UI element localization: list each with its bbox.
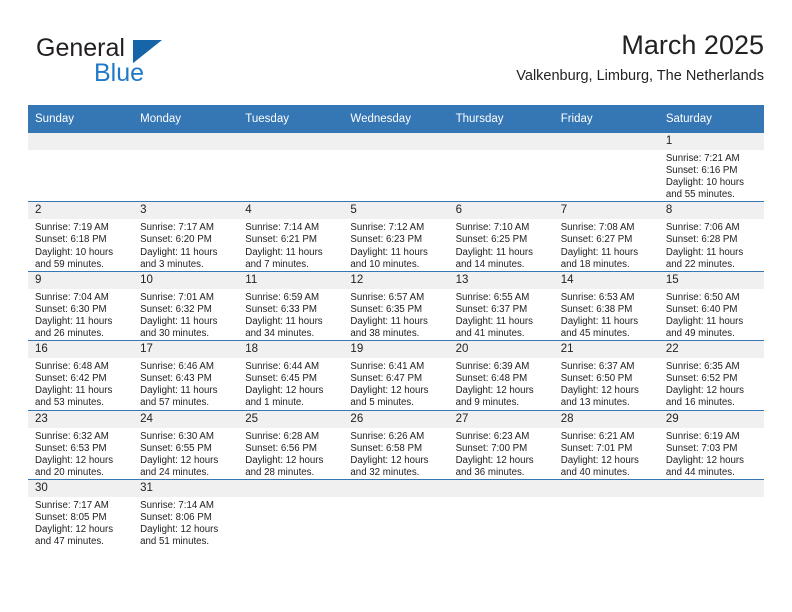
weekday-header-wednesday: Wednesday [343, 105, 448, 133]
calendar-body: 1Sunrise: 7:21 AMSunset: 6:16 PMDaylight… [28, 133, 764, 548]
day-detail-daylight2: and 1 minute. [245, 397, 339, 409]
calendar-empty-cell [554, 479, 659, 548]
day-detail-daylight2: and 55 minutes. [666, 189, 760, 201]
day-detail-daylight1: Daylight: 11 hours [35, 316, 129, 328]
day-detail-daylight1: Daylight: 11 hours [35, 385, 129, 397]
day-number: 23 [28, 411, 133, 428]
day-detail-sunrise: Sunrise: 6:55 AM [456, 292, 550, 304]
day-detail-daylight1: Daylight: 11 hours [350, 316, 444, 328]
day-detail-daylight2: and 59 minutes. [35, 259, 129, 271]
day-number: 14 [554, 272, 659, 289]
page-subtitle: Valkenburg, Limburg, The Netherlands [516, 65, 764, 87]
day-number: 26 [343, 411, 448, 428]
day-detail-daylight2: and 24 minutes. [140, 467, 234, 479]
day-details: Sunrise: 6:50 AMSunset: 6:40 PMDaylight:… [659, 289, 764, 340]
day-number [133, 133, 238, 150]
calendar-empty-cell [449, 479, 554, 548]
day-detail-daylight1: Daylight: 12 hours [666, 385, 760, 397]
day-detail-daylight1: Daylight: 11 hours [561, 316, 655, 328]
day-number: 22 [659, 341, 764, 358]
day-number: 19 [343, 341, 448, 358]
day-detail-daylight1: Daylight: 11 hours [140, 385, 234, 397]
day-number: 9 [28, 272, 133, 289]
day-details: Sunrise: 6:41 AMSunset: 6:47 PMDaylight:… [343, 358, 448, 409]
calendar-day-cell[interactable]: 16Sunrise: 6:48 AMSunset: 6:42 PMDayligh… [28, 341, 133, 410]
weekday-header-monday: Monday [133, 105, 238, 133]
day-detail-sunrise: Sunrise: 7:19 AM [35, 222, 129, 234]
day-detail-sunrise: Sunrise: 6:39 AM [456, 361, 550, 373]
day-detail-sunset: Sunset: 6:48 PM [456, 373, 550, 385]
day-number: 17 [133, 341, 238, 358]
day-number: 10 [133, 272, 238, 289]
weekday-header-saturday: Saturday [659, 105, 764, 133]
day-number: 11 [238, 272, 343, 289]
day-number: 2 [28, 202, 133, 219]
calendar-week-row: 2Sunrise: 7:19 AMSunset: 6:18 PMDaylight… [28, 202, 764, 271]
day-detail-sunrise: Sunrise: 7:21 AM [666, 153, 760, 165]
day-details: Sunrise: 7:14 AMSunset: 6:21 PMDaylight:… [238, 219, 343, 270]
day-detail-sunset: Sunset: 6:38 PM [561, 304, 655, 316]
day-details: Sunrise: 6:35 AMSunset: 6:52 PMDaylight:… [659, 358, 764, 409]
day-detail-sunset: Sunset: 6:52 PM [666, 373, 760, 385]
day-detail-sunrise: Sunrise: 6:26 AM [350, 431, 444, 443]
day-detail-daylight1: Daylight: 12 hours [140, 455, 234, 467]
day-detail-sunrise: Sunrise: 6:59 AM [245, 292, 339, 304]
day-number: 6 [449, 202, 554, 219]
day-number: 30 [28, 480, 133, 497]
day-number [554, 133, 659, 150]
day-details: Sunrise: 6:44 AMSunset: 6:45 PMDaylight:… [238, 358, 343, 409]
day-details: Sunrise: 6:21 AMSunset: 7:01 PMDaylight:… [554, 428, 659, 479]
day-number [238, 480, 343, 497]
calendar-day-cell[interactable]: 10Sunrise: 7:01 AMSunset: 6:32 PMDayligh… [133, 271, 238, 340]
day-detail-daylight2: and 13 minutes. [561, 397, 655, 409]
day-details: Sunrise: 7:17 AMSunset: 8:05 PMDaylight:… [28, 497, 133, 548]
day-detail-sunrise: Sunrise: 6:41 AM [350, 361, 444, 373]
day-detail-daylight2: and 16 minutes. [666, 397, 760, 409]
day-number [28, 133, 133, 150]
day-details: Sunrise: 7:12 AMSunset: 6:23 PMDaylight:… [343, 219, 448, 270]
calendar-week-row: 9Sunrise: 7:04 AMSunset: 6:30 PMDaylight… [28, 271, 764, 340]
day-detail-sunset: Sunset: 7:01 PM [561, 443, 655, 455]
day-details: Sunrise: 6:28 AMSunset: 6:56 PMDaylight:… [238, 428, 343, 479]
day-detail-sunset: Sunset: 6:28 PM [666, 234, 760, 246]
day-number: 25 [238, 411, 343, 428]
weekday-header-sunday: Sunday [28, 105, 133, 133]
calendar-day-cell[interactable]: 5Sunrise: 7:12 AMSunset: 6:23 PMDaylight… [343, 202, 448, 271]
page-title: March 2025 [516, 28, 764, 62]
day-detail-daylight1: Daylight: 12 hours [245, 455, 339, 467]
calendar-week-row: 30Sunrise: 7:17 AMSunset: 8:05 PMDayligh… [28, 479, 764, 548]
calendar-day-cell[interactable]: 2Sunrise: 7:19 AMSunset: 6:18 PMDaylight… [28, 202, 133, 271]
day-detail-daylight2: and 34 minutes. [245, 328, 339, 340]
day-detail-daylight1: Daylight: 12 hours [35, 524, 129, 536]
day-number: 13 [449, 272, 554, 289]
day-number: 5 [343, 202, 448, 219]
day-detail-sunrise: Sunrise: 6:19 AM [666, 431, 760, 443]
day-detail-sunrise: Sunrise: 6:50 AM [666, 292, 760, 304]
calendar-day-cell[interactable]: 17Sunrise: 6:46 AMSunset: 6:43 PMDayligh… [133, 341, 238, 410]
day-detail-daylight2: and 20 minutes. [35, 467, 129, 479]
day-detail-daylight1: Daylight: 11 hours [140, 316, 234, 328]
day-number [659, 480, 764, 497]
calendar-day-cell[interactable]: 3Sunrise: 7:17 AMSunset: 6:20 PMDaylight… [133, 202, 238, 271]
calendar-day-cell[interactable]: 13Sunrise: 6:55 AMSunset: 6:37 PMDayligh… [449, 271, 554, 340]
day-detail-daylight1: Daylight: 12 hours [245, 385, 339, 397]
calendar-day-cell[interactable]: 22Sunrise: 6:35 AMSunset: 6:52 PMDayligh… [659, 341, 764, 410]
day-detail-daylight1: Daylight: 11 hours [666, 316, 760, 328]
day-details: Sunrise: 6:59 AMSunset: 6:33 PMDaylight:… [238, 289, 343, 340]
day-number: 16 [28, 341, 133, 358]
day-number: 3 [133, 202, 238, 219]
calendar-day-cell[interactable]: 31Sunrise: 7:14 AMSunset: 8:06 PMDayligh… [133, 479, 238, 548]
day-details: Sunrise: 7:19 AMSunset: 6:18 PMDaylight:… [28, 219, 133, 270]
day-detail-daylight2: and 3 minutes. [140, 259, 234, 271]
day-details: Sunrise: 7:01 AMSunset: 6:32 PMDaylight:… [133, 289, 238, 340]
day-number: 1 [659, 133, 764, 150]
day-number: 31 [133, 480, 238, 497]
day-detail-sunset: Sunset: 6:27 PM [561, 234, 655, 246]
calendar-day-cell[interactable]: 29Sunrise: 6:19 AMSunset: 7:03 PMDayligh… [659, 410, 764, 479]
day-detail-sunrise: Sunrise: 6:30 AM [140, 431, 234, 443]
calendar-grid: Sunday Monday Tuesday Wednesday Thursday… [28, 105, 764, 548]
day-detail-daylight2: and 30 minutes. [140, 328, 234, 340]
calendar-day-cell[interactable]: 11Sunrise: 6:59 AMSunset: 6:33 PMDayligh… [238, 271, 343, 340]
day-detail-sunset: Sunset: 6:56 PM [245, 443, 339, 455]
calendar-day-cell[interactable]: 12Sunrise: 6:57 AMSunset: 6:35 PMDayligh… [343, 271, 448, 340]
day-detail-sunset: Sunset: 6:21 PM [245, 234, 339, 246]
weekday-header-thursday: Thursday [449, 105, 554, 133]
day-detail-daylight1: Daylight: 11 hours [561, 247, 655, 259]
day-detail-sunset: Sunset: 6:32 PM [140, 304, 234, 316]
day-number: 24 [133, 411, 238, 428]
calendar-day-cell[interactable]: 20Sunrise: 6:39 AMSunset: 6:48 PMDayligh… [449, 341, 554, 410]
day-detail-daylight2: and 14 minutes. [456, 259, 550, 271]
day-detail-daylight1: Daylight: 12 hours [561, 385, 655, 397]
calendar-empty-cell [238, 479, 343, 548]
day-detail-sunrise: Sunrise: 6:57 AM [350, 292, 444, 304]
day-detail-daylight2: and 47 minutes. [35, 536, 129, 548]
calendar-week-row: 1Sunrise: 7:21 AMSunset: 6:16 PMDaylight… [28, 133, 764, 202]
brand-logo[interactable]: General Blue [36, 34, 236, 92]
calendar-empty-cell [343, 133, 448, 202]
day-detail-daylight1: Daylight: 12 hours [140, 524, 234, 536]
day-detail-daylight1: Daylight: 12 hours [350, 385, 444, 397]
day-detail-daylight2: and 28 minutes. [245, 467, 339, 479]
day-detail-daylight1: Daylight: 10 hours [666, 177, 760, 189]
day-detail-daylight2: and 26 minutes. [35, 328, 129, 340]
day-detail-daylight2: and 32 minutes. [350, 467, 444, 479]
day-detail-sunset: Sunset: 6:35 PM [350, 304, 444, 316]
day-detail-sunset: Sunset: 6:55 PM [140, 443, 234, 455]
calendar-day-cell[interactable]: 30Sunrise: 7:17 AMSunset: 8:05 PMDayligh… [28, 479, 133, 548]
calendar-day-cell[interactable]: 18Sunrise: 6:44 AMSunset: 6:45 PMDayligh… [238, 341, 343, 410]
day-details: Sunrise: 6:53 AMSunset: 6:38 PMDaylight:… [554, 289, 659, 340]
calendar-empty-cell [343, 479, 448, 548]
day-detail-sunset: Sunset: 7:03 PM [666, 443, 760, 455]
day-detail-sunrise: Sunrise: 6:53 AM [561, 292, 655, 304]
calendar-day-cell[interactable]: 15Sunrise: 6:50 AMSunset: 6:40 PMDayligh… [659, 271, 764, 340]
day-number [554, 480, 659, 497]
day-detail-daylight1: Daylight: 11 hours [140, 247, 234, 259]
brand-name-blue: Blue [94, 59, 144, 88]
day-detail-sunrise: Sunrise: 7:14 AM [245, 222, 339, 234]
calendar-page: General Blue March 2025 Valkenburg, Limb… [0, 0, 792, 612]
day-detail-sunrise: Sunrise: 6:23 AM [456, 431, 550, 443]
day-detail-sunset: Sunset: 6:43 PM [140, 373, 234, 385]
day-detail-sunset: Sunset: 6:33 PM [245, 304, 339, 316]
day-detail-sunrise: Sunrise: 7:17 AM [140, 222, 234, 234]
calendar-empty-cell [28, 133, 133, 202]
day-details: Sunrise: 6:32 AMSunset: 6:53 PMDaylight:… [28, 428, 133, 479]
calendar-day-cell[interactable]: 7Sunrise: 7:08 AMSunset: 6:27 PMDaylight… [554, 202, 659, 271]
day-details: Sunrise: 7:08 AMSunset: 6:27 PMDaylight:… [554, 219, 659, 270]
day-number: 15 [659, 272, 764, 289]
day-number [238, 133, 343, 150]
day-number: 29 [659, 411, 764, 428]
day-detail-daylight2: and 36 minutes. [456, 467, 550, 479]
day-details: Sunrise: 6:48 AMSunset: 6:42 PMDaylight:… [28, 358, 133, 409]
day-detail-sunset: Sunset: 6:23 PM [350, 234, 444, 246]
day-detail-sunset: Sunset: 6:25 PM [456, 234, 550, 246]
page-header: General Blue March 2025 Valkenburg, Limb… [28, 28, 764, 100]
day-detail-daylight2: and 10 minutes. [350, 259, 444, 271]
day-number [343, 480, 448, 497]
day-number: 8 [659, 202, 764, 219]
calendar-day-cell[interactable]: 21Sunrise: 6:37 AMSunset: 6:50 PMDayligh… [554, 341, 659, 410]
day-detail-sunrise: Sunrise: 7:06 AM [666, 222, 760, 234]
day-detail-sunrise: Sunrise: 6:37 AM [561, 361, 655, 373]
calendar-day-cell[interactable]: 28Sunrise: 6:21 AMSunset: 7:01 PMDayligh… [554, 410, 659, 479]
day-detail-sunset: Sunset: 6:47 PM [350, 373, 444, 385]
day-detail-sunrise: Sunrise: 7:04 AM [35, 292, 129, 304]
day-detail-daylight2: and 49 minutes. [666, 328, 760, 340]
day-details: Sunrise: 6:55 AMSunset: 6:37 PMDaylight:… [449, 289, 554, 340]
calendar-empty-cell [133, 133, 238, 202]
day-detail-sunrise: Sunrise: 7:10 AM [456, 222, 550, 234]
day-detail-sunrise: Sunrise: 6:44 AM [245, 361, 339, 373]
day-number: 20 [449, 341, 554, 358]
day-detail-daylight1: Daylight: 12 hours [561, 455, 655, 467]
calendar-day-cell[interactable]: 27Sunrise: 6:23 AMSunset: 7:00 PMDayligh… [449, 410, 554, 479]
day-detail-daylight2: and 41 minutes. [456, 328, 550, 340]
day-detail-daylight2: and 9 minutes. [456, 397, 550, 409]
day-detail-sunrise: Sunrise: 6:48 AM [35, 361, 129, 373]
day-detail-sunrise: Sunrise: 7:14 AM [140, 500, 234, 512]
day-details: Sunrise: 6:37 AMSunset: 6:50 PMDaylight:… [554, 358, 659, 409]
day-detail-daylight1: Daylight: 11 hours [456, 316, 550, 328]
day-detail-daylight2: and 5 minutes. [350, 397, 444, 409]
day-detail-sunrise: Sunrise: 6:21 AM [561, 431, 655, 443]
day-detail-sunset: Sunset: 6:45 PM [245, 373, 339, 385]
calendar-empty-cell [238, 133, 343, 202]
day-details: Sunrise: 6:46 AMSunset: 6:43 PMDaylight:… [133, 358, 238, 409]
calendar-day-cell[interactable]: 25Sunrise: 6:28 AMSunset: 6:56 PMDayligh… [238, 410, 343, 479]
day-detail-sunset: Sunset: 6:53 PM [35, 443, 129, 455]
weekday-header-row: Sunday Monday Tuesday Wednesday Thursday… [28, 105, 764, 133]
day-detail-daylight2: and 18 minutes. [561, 259, 655, 271]
day-detail-sunset: Sunset: 8:05 PM [35, 512, 129, 524]
day-number: 28 [554, 411, 659, 428]
day-details: Sunrise: 6:23 AMSunset: 7:00 PMDaylight:… [449, 428, 554, 479]
day-details: Sunrise: 6:30 AMSunset: 6:55 PMDaylight:… [133, 428, 238, 479]
calendar-empty-cell [659, 479, 764, 548]
day-detail-sunrise: Sunrise: 7:08 AM [561, 222, 655, 234]
calendar-week-row: 23Sunrise: 6:32 AMSunset: 6:53 PMDayligh… [28, 410, 764, 479]
day-details: Sunrise: 7:06 AMSunset: 6:28 PMDaylight:… [659, 219, 764, 270]
calendar-day-cell[interactable]: 1Sunrise: 7:21 AMSunset: 6:16 PMDaylight… [659, 133, 764, 202]
day-detail-daylight2: and 7 minutes. [245, 259, 339, 271]
day-detail-daylight2: and 22 minutes. [666, 259, 760, 271]
day-detail-daylight1: Daylight: 11 hours [245, 316, 339, 328]
day-details: Sunrise: 6:57 AMSunset: 6:35 PMDaylight:… [343, 289, 448, 340]
day-detail-sunset: Sunset: 6:20 PM [140, 234, 234, 246]
calendar-week-row: 16Sunrise: 6:48 AMSunset: 6:42 PMDayligh… [28, 341, 764, 410]
day-detail-sunset: Sunset: 6:42 PM [35, 373, 129, 385]
day-detail-daylight1: Daylight: 12 hours [456, 385, 550, 397]
day-detail-sunset: Sunset: 7:00 PM [456, 443, 550, 455]
day-detail-sunset: Sunset: 6:16 PM [666, 165, 760, 177]
day-detail-sunrise: Sunrise: 6:35 AM [666, 361, 760, 373]
calendar-day-cell[interactable]: 6Sunrise: 7:10 AMSunset: 6:25 PMDaylight… [449, 202, 554, 271]
day-detail-sunset: Sunset: 6:30 PM [35, 304, 129, 316]
day-number: 27 [449, 411, 554, 428]
calendar-day-cell[interactable]: 8Sunrise: 7:06 AMSunset: 6:28 PMDaylight… [659, 202, 764, 271]
day-detail-daylight1: Daylight: 11 hours [456, 247, 550, 259]
day-detail-daylight2: and 51 minutes. [140, 536, 234, 548]
day-detail-daylight2: and 53 minutes. [35, 397, 129, 409]
calendar-day-cell[interactable]: 14Sunrise: 6:53 AMSunset: 6:38 PMDayligh… [554, 271, 659, 340]
day-detail-daylight2: and 44 minutes. [666, 467, 760, 479]
day-detail-daylight1: Daylight: 11 hours [350, 247, 444, 259]
day-detail-daylight1: Daylight: 12 hours [35, 455, 129, 467]
day-number: 12 [343, 272, 448, 289]
day-detail-sunrise: Sunrise: 7:17 AM [35, 500, 129, 512]
title-block: March 2025 Valkenburg, Limburg, The Neth… [516, 28, 764, 87]
calendar-day-cell[interactable]: 26Sunrise: 6:26 AMSunset: 6:58 PMDayligh… [343, 410, 448, 479]
day-number: 18 [238, 341, 343, 358]
day-detail-sunset: Sunset: 6:37 PM [456, 304, 550, 316]
day-detail-sunset: Sunset: 6:50 PM [561, 373, 655, 385]
calendar-day-cell[interactable]: 4Sunrise: 7:14 AMSunset: 6:21 PMDaylight… [238, 202, 343, 271]
day-detail-sunrise: Sunrise: 7:01 AM [140, 292, 234, 304]
day-detail-daylight1: Daylight: 11 hours [245, 247, 339, 259]
calendar-day-cell[interactable]: 24Sunrise: 6:30 AMSunset: 6:55 PMDayligh… [133, 410, 238, 479]
day-detail-sunset: Sunset: 8:06 PM [140, 512, 234, 524]
day-detail-daylight1: Daylight: 11 hours [666, 247, 760, 259]
weekday-header-tuesday: Tuesday [238, 105, 343, 133]
day-details: Sunrise: 7:17 AMSunset: 6:20 PMDaylight:… [133, 219, 238, 270]
day-detail-daylight2: and 38 minutes. [350, 328, 444, 340]
day-number: 21 [554, 341, 659, 358]
weekday-header-friday: Friday [554, 105, 659, 133]
day-number [343, 133, 448, 150]
day-detail-sunset: Sunset: 6:58 PM [350, 443, 444, 455]
day-detail-daylight1: Daylight: 12 hours [666, 455, 760, 467]
day-detail-sunrise: Sunrise: 6:32 AM [35, 431, 129, 443]
day-detail-daylight1: Daylight: 12 hours [350, 455, 444, 467]
day-detail-daylight2: and 40 minutes. [561, 467, 655, 479]
day-details: Sunrise: 7:10 AMSunset: 6:25 PMDaylight:… [449, 219, 554, 270]
day-detail-sunrise: Sunrise: 6:28 AM [245, 431, 339, 443]
day-detail-sunset: Sunset: 6:18 PM [35, 234, 129, 246]
calendar-day-cell[interactable]: 9Sunrise: 7:04 AMSunset: 6:30 PMDaylight… [28, 271, 133, 340]
day-details: Sunrise: 6:39 AMSunset: 6:48 PMDaylight:… [449, 358, 554, 409]
day-details: Sunrise: 7:21 AMSunset: 6:16 PMDaylight:… [659, 150, 764, 201]
day-detail-daylight1: Daylight: 10 hours [35, 247, 129, 259]
day-detail-daylight1: Daylight: 12 hours [456, 455, 550, 467]
day-details: Sunrise: 6:26 AMSunset: 6:58 PMDaylight:… [343, 428, 448, 479]
day-detail-sunset: Sunset: 6:40 PM [666, 304, 760, 316]
day-details: Sunrise: 7:14 AMSunset: 8:06 PMDaylight:… [133, 497, 238, 548]
day-details: Sunrise: 6:19 AMSunset: 7:03 PMDaylight:… [659, 428, 764, 479]
day-number: 4 [238, 202, 343, 219]
calendar-day-cell[interactable]: 23Sunrise: 6:32 AMSunset: 6:53 PMDayligh… [28, 410, 133, 479]
calendar-empty-cell [449, 133, 554, 202]
day-detail-sunrise: Sunrise: 6:46 AM [140, 361, 234, 373]
day-details: Sunrise: 7:04 AMSunset: 6:30 PMDaylight:… [28, 289, 133, 340]
day-number [449, 133, 554, 150]
calendar-empty-cell [554, 133, 659, 202]
day-detail-sunrise: Sunrise: 7:12 AM [350, 222, 444, 234]
day-number [449, 480, 554, 497]
day-number: 7 [554, 202, 659, 219]
day-detail-daylight2: and 45 minutes. [561, 328, 655, 340]
calendar-day-cell[interactable]: 19Sunrise: 6:41 AMSunset: 6:47 PMDayligh… [343, 341, 448, 410]
day-detail-daylight2: and 57 minutes. [140, 397, 234, 409]
